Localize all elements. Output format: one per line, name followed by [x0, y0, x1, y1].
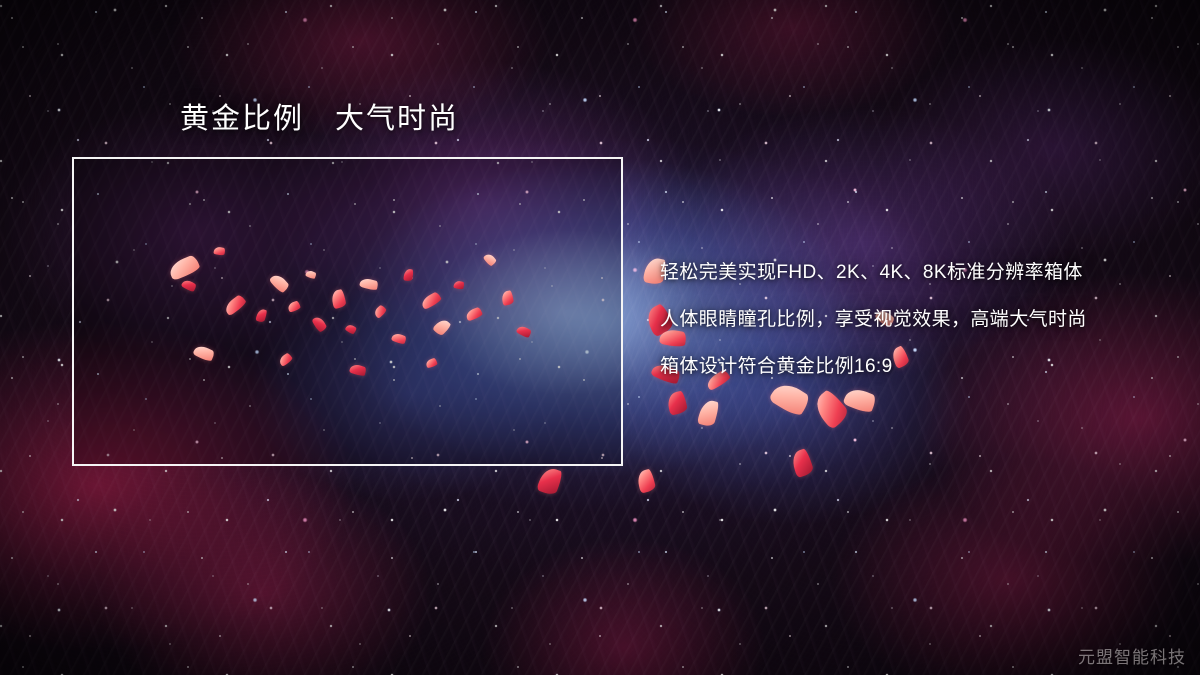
petal-shape	[697, 398, 721, 428]
panel-starfield-medium-icon	[74, 159, 621, 464]
panel-image	[74, 159, 621, 464]
petal-shape	[842, 385, 877, 415]
panel-starfield-small-icon	[74, 159, 621, 464]
body-text-block: 轻松完美实现FHD、2K、4K、8K标准分辨率箱体 人体眼睛瞳孔比例，享受视觉效…	[660, 257, 1160, 378]
panel-nebula-red	[74, 159, 621, 464]
presentation-slide: 黄金比例 大气时尚 轻松完美实现FHD、2K、4K、8K标准分辨率箱体 人体眼睛…	[0, 0, 1200, 675]
petal-shape	[536, 465, 564, 496]
panel-nebula-violet	[74, 159, 621, 464]
petal-shape	[636, 468, 657, 493]
framed-image-panel	[72, 157, 623, 466]
petal-shape	[768, 378, 812, 418]
body-line-2: 人体眼睛瞳孔比例，享受视觉效果，高端大气时尚	[660, 304, 1160, 331]
body-line-3: 箱体设计符合黄金比例16:9	[660, 351, 1160, 378]
body-line-1: 轻松完美实现FHD、2K、4K、8K标准分辨率箱体	[660, 257, 1160, 284]
panel-nebula-wisp	[74, 159, 621, 464]
petal-shape	[666, 390, 688, 415]
slide-title: 黄金比例 大气时尚	[180, 101, 459, 137]
brand-watermark: 元盟智能科技	[1078, 643, 1186, 668]
petal-shape	[810, 388, 851, 430]
panel-starfield-bright-icon	[74, 159, 621, 464]
panel-nebula-blue	[74, 159, 621, 464]
panel-vignette	[74, 159, 621, 464]
panel-nebula-scene	[74, 159, 621, 464]
panel-nebula-base	[74, 159, 621, 464]
petal-shape	[789, 448, 814, 478]
